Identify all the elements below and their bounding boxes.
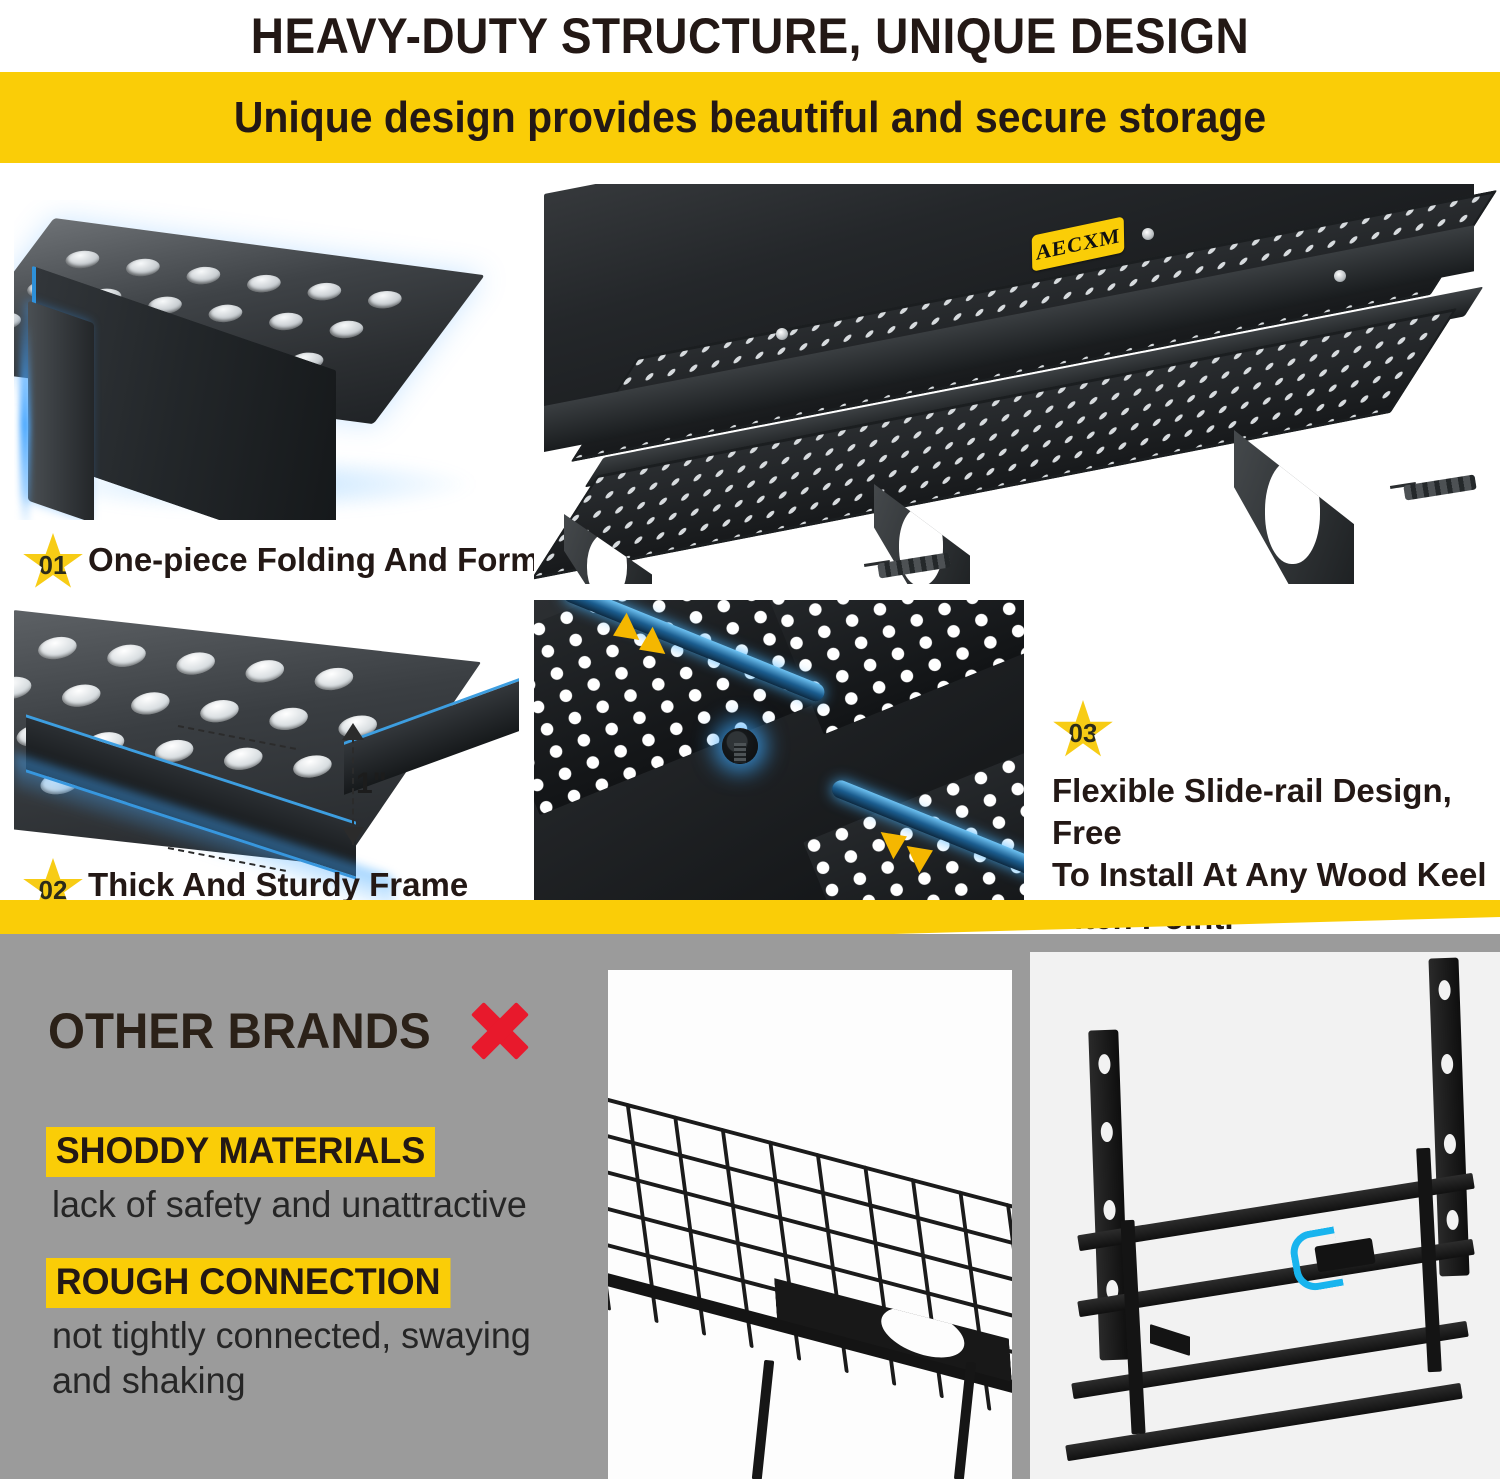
wall-bracket-right bbox=[1234, 430, 1354, 584]
callout-number: 03 bbox=[1069, 718, 1098, 749]
star-badge-icon: 03 bbox=[1052, 700, 1114, 762]
dimension-value: 1" bbox=[356, 767, 387, 801]
mount-tab bbox=[1150, 1324, 1190, 1356]
arrow-down-icon bbox=[342, 827, 364, 844]
comparison-title: OTHER BRANDS bbox=[48, 1002, 431, 1060]
x-mark-icon bbox=[469, 1000, 531, 1062]
comparison-heading-2: ROUGH CONNECTION bbox=[46, 1258, 450, 1308]
shelf-bar-4 bbox=[1065, 1383, 1463, 1461]
blue-edge-glow bbox=[20, 318, 30, 520]
photo-slide-rail-detail bbox=[534, 600, 1024, 900]
shelf-bar-1 bbox=[1077, 1173, 1475, 1251]
channel-illustration bbox=[14, 200, 520, 520]
photo-competitor-bracket-rack bbox=[1030, 952, 1500, 1479]
page-title: HEAVY-DUTY STRUCTURE, UNIQUE DESIGN bbox=[60, 0, 1440, 72]
screw-hole-3 bbox=[776, 328, 788, 340]
photo-competitor-wire-rack bbox=[608, 970, 1012, 1479]
photo-main-product-rack: AECXM bbox=[534, 184, 1500, 584]
support-leg-left bbox=[752, 1360, 774, 1479]
infographic-page: HEAVY-DUTY STRUCTURE, UNIQUE DESIGN Uniq… bbox=[0, 0, 1500, 1479]
comparison-title-row: OTHER BRANDS bbox=[48, 1000, 531, 1062]
star-badge-icon: 01 bbox=[22, 533, 84, 593]
wire-mesh-grid bbox=[608, 1090, 1012, 1432]
wall-post-right bbox=[1428, 958, 1469, 1277]
wall-anchor-center bbox=[864, 556, 950, 576]
photo-thick-frame bbox=[14, 600, 520, 900]
subtitle-banner: Unique design provides beautiful and sec… bbox=[0, 72, 1500, 163]
photo-one-piece-channel bbox=[14, 200, 520, 520]
callout-01: 01 One-piece Folding And Forming bbox=[22, 533, 589, 593]
mounting-bolt bbox=[722, 728, 758, 764]
callout-number: 01 bbox=[39, 550, 68, 581]
rack-illustration: AECXM bbox=[534, 184, 1500, 584]
wall-anchor-upper bbox=[1390, 478, 1476, 498]
comparison-heading-1: SHODDY MATERIALS bbox=[46, 1127, 435, 1177]
comparison-description-2: not tightly connected, swaying and shaki… bbox=[52, 1313, 531, 1403]
perforation-holes bbox=[14, 610, 481, 662]
screw-hole-1 bbox=[1142, 228, 1154, 240]
channel-fold-lip bbox=[28, 301, 94, 520]
callout-label: One-piece Folding And Forming bbox=[88, 543, 589, 577]
arrow-up-icon bbox=[342, 723, 364, 740]
screw-hole-2 bbox=[1334, 270, 1346, 282]
dimension-marker: 1" bbox=[298, 705, 428, 875]
page-subtitle: Unique design provides beautiful and sec… bbox=[234, 93, 1266, 143]
comparison-description-1: lack of safety and unattractive bbox=[52, 1182, 527, 1227]
callout-label: Thick And Sturdy Frame bbox=[88, 868, 468, 902]
hook-highlight-icon bbox=[1287, 1226, 1344, 1293]
